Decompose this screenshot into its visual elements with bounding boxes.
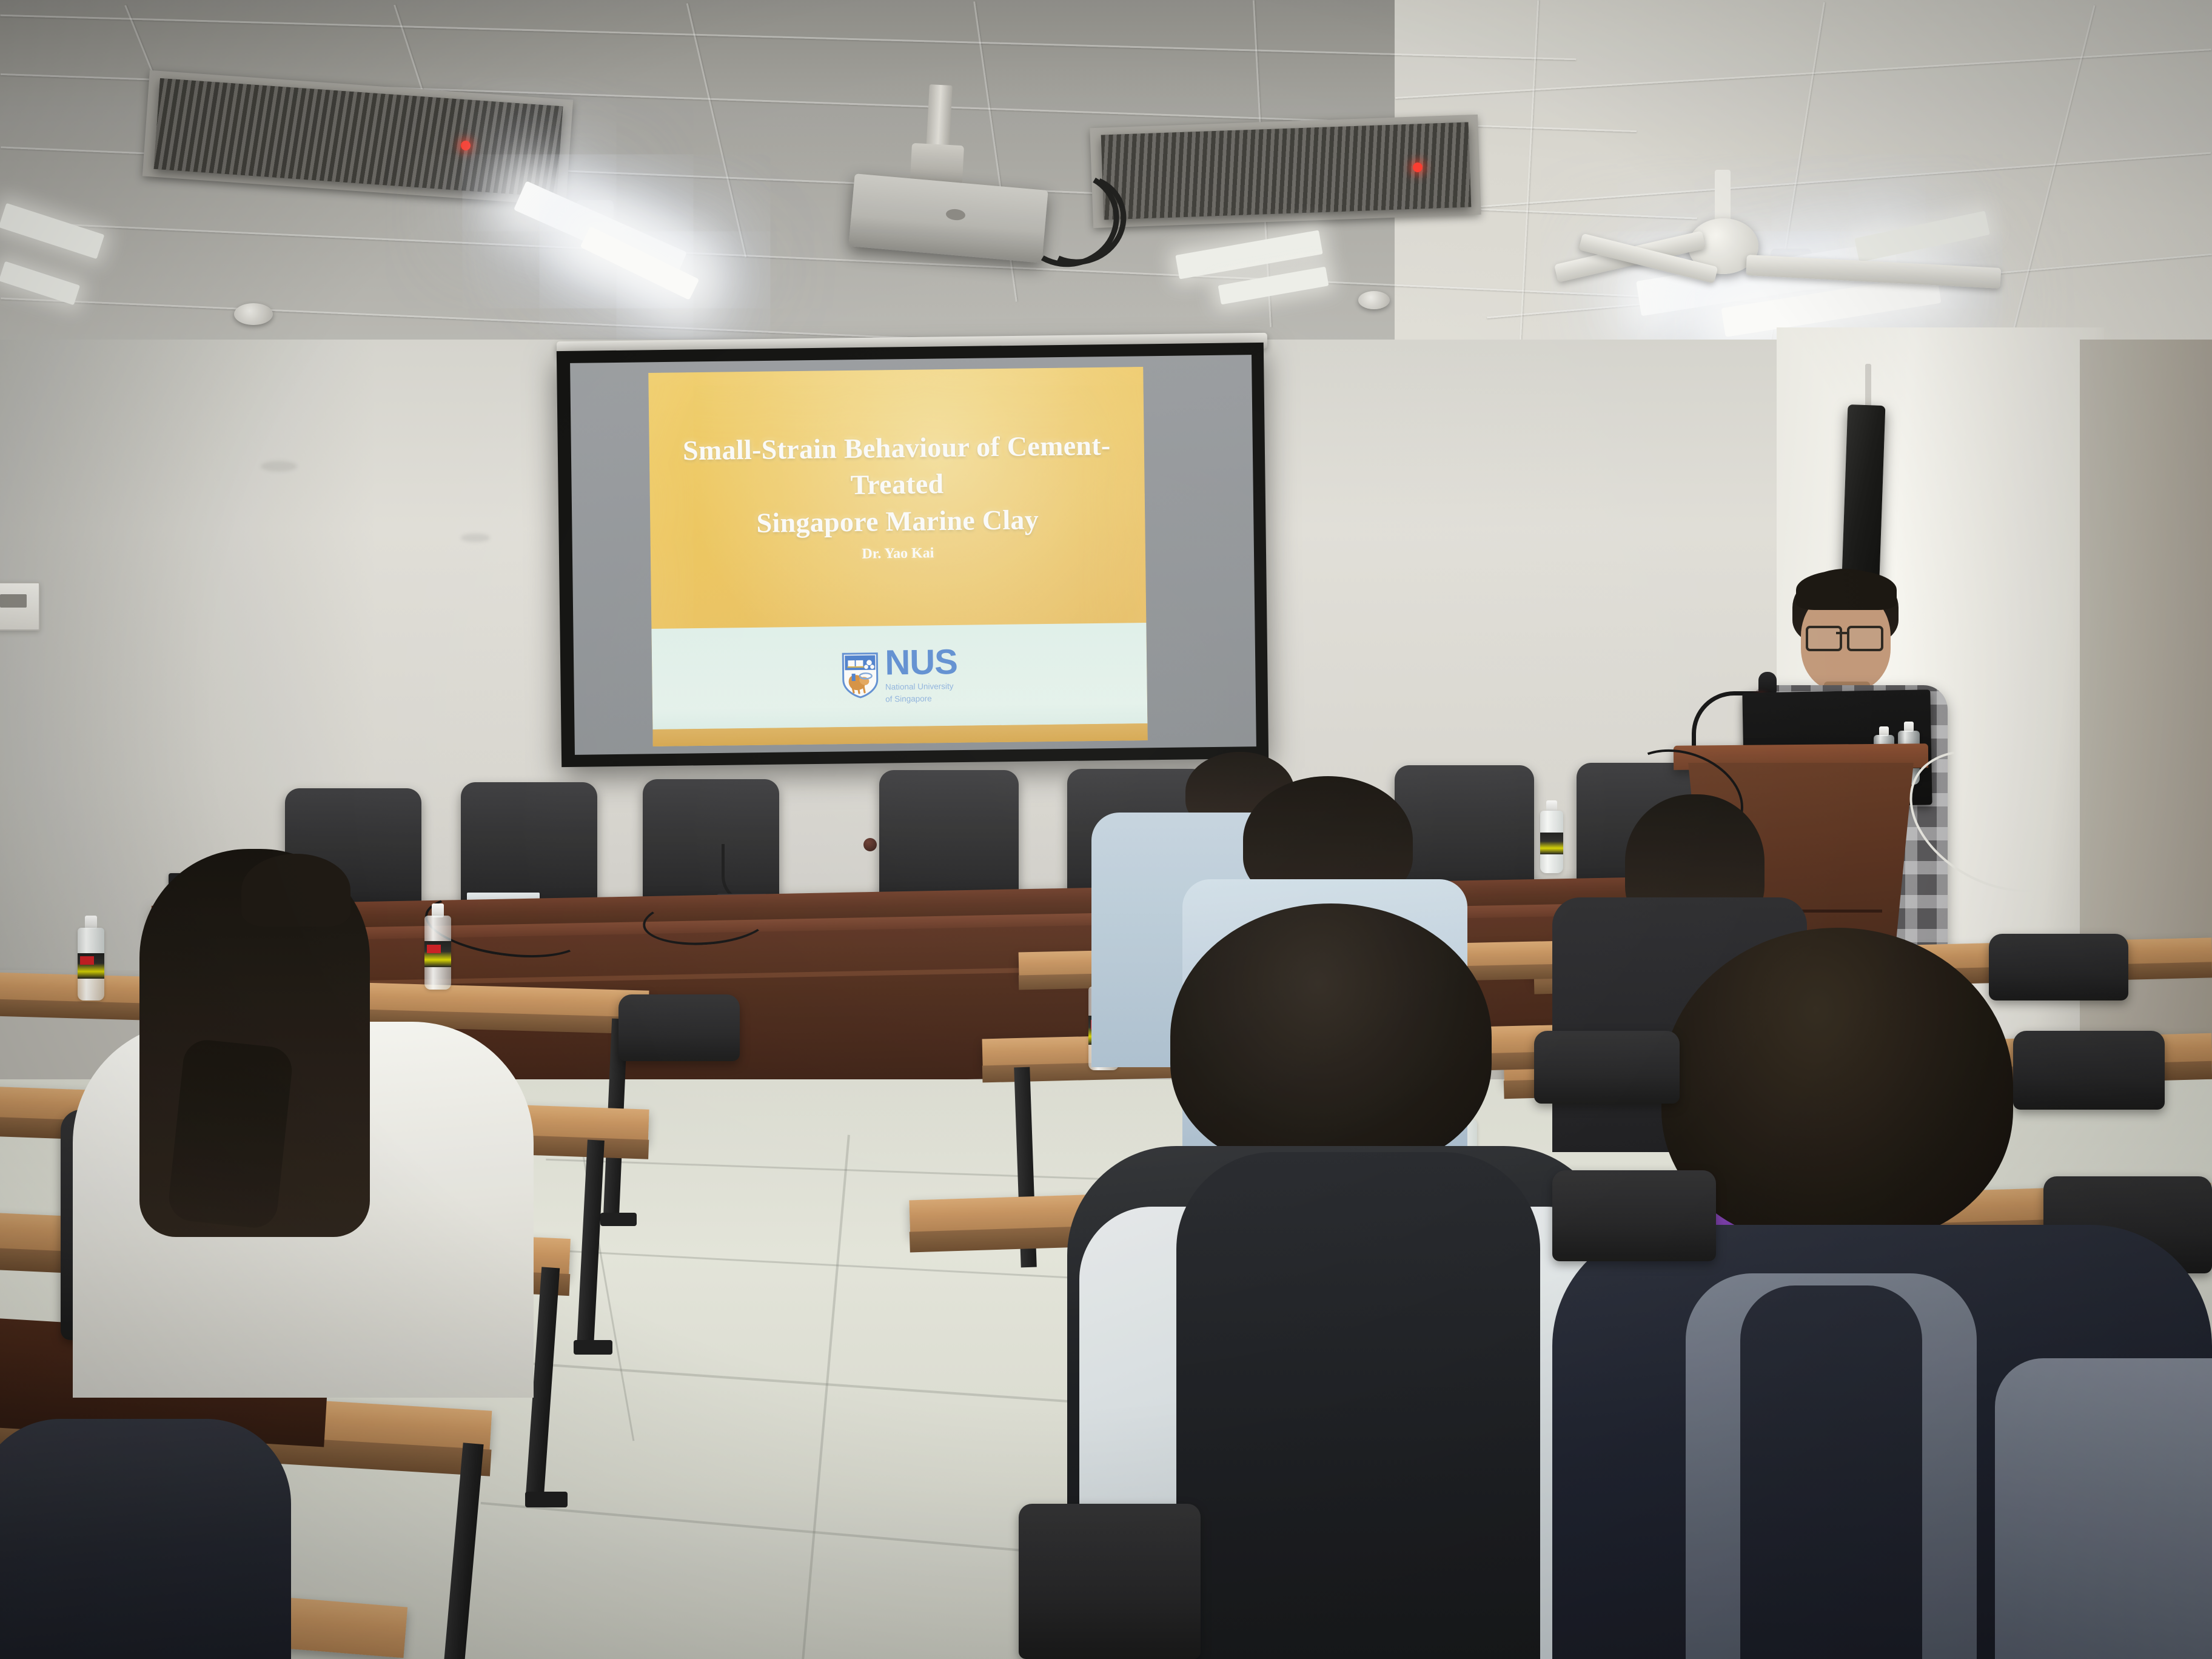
projector-mount-pole [926, 84, 953, 152]
desk-foot [574, 1340, 612, 1355]
presenter-glasses-bridge [1836, 632, 1848, 634]
water-bottle[interactable] [1540, 800, 1563, 873]
water-bottle[interactable] [424, 903, 451, 990]
ceiling-fan-rod [1715, 170, 1731, 224]
bottle-label-accent [80, 956, 95, 965]
projected-slide: Small-Strain Behaviour of Cement-Treated… [648, 367, 1147, 746]
audience-chair[interactable] [1989, 934, 2128, 1000]
slide-footer-band: NUS National University of Singapore [651, 623, 1147, 729]
nus-full-name-line-2: of Singapore [885, 694, 958, 705]
ac-indicator-light [461, 141, 471, 150]
desk-foot [600, 1213, 637, 1226]
bottle-label [1540, 833, 1563, 854]
audience-torso [0, 1419, 291, 1659]
desk-foot [525, 1492, 568, 1507]
audience-hair-top [241, 854, 350, 927]
presenter-glasses-lens [1806, 626, 1842, 651]
slide-title-line-2: Singapore Marine Clay [670, 500, 1125, 543]
slide-title-line-1: Small-Strain Behaviour of Cement-Treated [669, 427, 1125, 506]
wall-speaker [1842, 404, 1886, 595]
nus-full-name-line-1: National University [885, 682, 958, 692]
audience-hair [1170, 903, 1492, 1170]
water-bottle[interactable] [78, 916, 104, 1000]
audience-chair[interactable] [1534, 1031, 1680, 1104]
lecture-room-photo: Small-Strain Behaviour of Cement-Treated… [0, 0, 2212, 1659]
nus-shield-icon [841, 652, 879, 700]
wall-scuff [261, 461, 297, 472]
nus-logo: NUS National University of Singapore [841, 645, 958, 705]
presenter-hair-fringe [1796, 570, 1897, 610]
panel-microphone-head [863, 838, 877, 851]
audience-chair[interactable] [1552, 1170, 1716, 1261]
panel-chair[interactable] [879, 770, 1019, 905]
audience-chair[interactable] [618, 994, 740, 1061]
audience-hair-strand [167, 1037, 294, 1230]
slide-author: Dr. Yao Kai [670, 543, 1125, 565]
slide-title: Small-Strain Behaviour of Cement-Treated… [669, 427, 1125, 543]
audience-chair[interactable] [1019, 1504, 1201, 1659]
nus-abbreviation: NUS [885, 645, 957, 680]
wall-control-panel-switch[interactable] [0, 594, 27, 608]
audience-hood [1176, 1152, 1540, 1659]
smoke-detector-icon [234, 303, 273, 325]
smoke-detector-icon [1358, 291, 1390, 309]
wall-scuff [461, 534, 490, 542]
presenter-glasses-lens [1847, 626, 1883, 651]
bottle-label-accent [427, 945, 441, 953]
audience-torso-center [1740, 1285, 1922, 1659]
audience-chair[interactable] [2013, 1031, 2165, 1110]
ac-indicator-light [1413, 163, 1423, 172]
audience-shoulder [1995, 1358, 2212, 1659]
